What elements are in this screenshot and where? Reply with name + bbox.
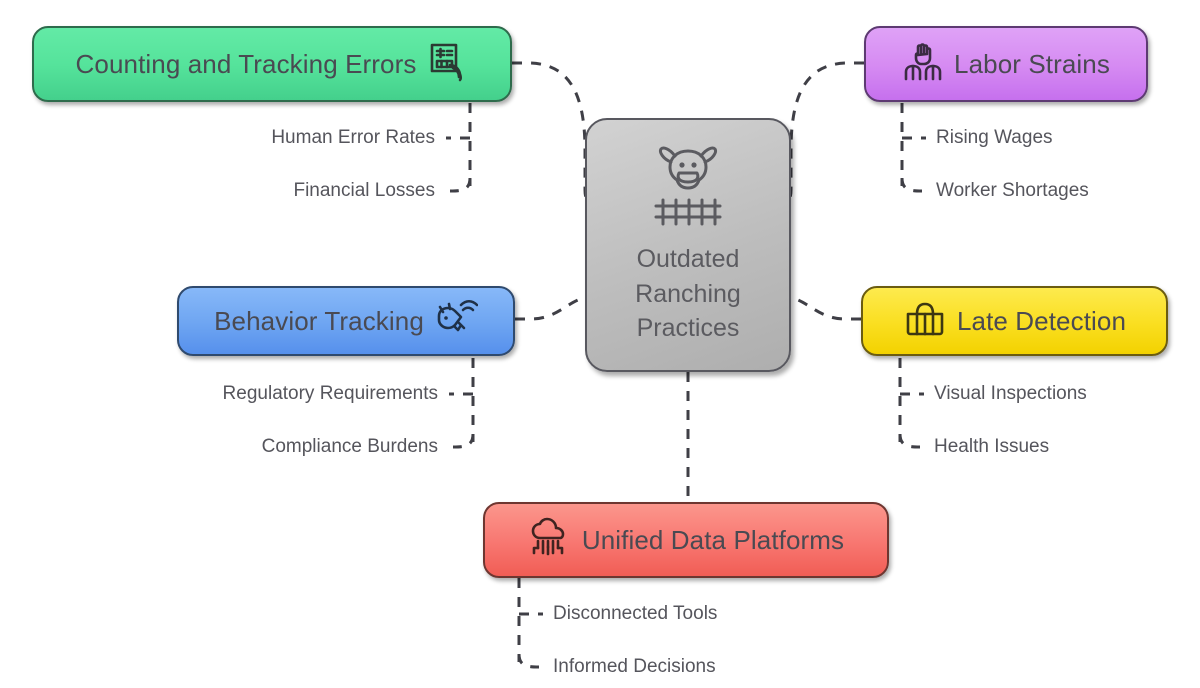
connector-center-behavior <box>515 297 588 319</box>
node-unified-data-platforms[interactable]: Unified Data Platforms <box>483 502 889 578</box>
cloud-circuit-icon <box>528 517 572 564</box>
center-title-line-0: Outdated <box>635 242 741 277</box>
center-node-title: Outdated Ranching Practices <box>635 242 741 346</box>
sub-label-late-0: Visual Inspections <box>934 383 1087 405</box>
fence-icon <box>653 197 723 232</box>
node-label-late-detection: Late Detection <box>957 306 1126 337</box>
mindmap-canvas: Outdated Ranching Practices Counting and… <box>0 0 1200 688</box>
workers-raised-hand-icon <box>902 41 944 88</box>
cow-head-icon <box>657 144 719 195</box>
node-label-labor-strains: Labor Strains <box>954 49 1110 80</box>
invoice-dollar-hand-icon <box>426 41 468 88</box>
node-counting-and-tracking-errors[interactable]: Counting and Tracking Errors <box>32 26 512 102</box>
node-label-unified-data-platforms: Unified Data Platforms <box>582 525 844 556</box>
sub-label-behavior-1: Compliance Burdens <box>110 436 438 458</box>
center-title-line-1: Ranching <box>635 277 741 312</box>
sub-label-unified-1: Informed Decisions <box>553 656 716 678</box>
center-title-line-2: Practices <box>635 311 741 346</box>
animal-tracking-signal-icon <box>434 298 478 345</box>
node-behavior-tracking[interactable]: Behavior Tracking <box>177 286 515 356</box>
sub-label-labor-0: Rising Wages <box>936 127 1053 149</box>
sub-label-behavior-0: Regulatory Requirements <box>110 383 438 405</box>
stem-counting-child-1 <box>450 178 470 191</box>
sub-label-late-1: Health Issues <box>934 436 1049 458</box>
node-late-detection[interactable]: Late Detection <box>861 286 1168 356</box>
center-node-outdated-ranching-practices[interactable]: Outdated Ranching Practices <box>585 118 791 372</box>
connector-center-late <box>788 297 861 319</box>
stem-unified-child-1 <box>519 654 539 667</box>
stem-late-child-1 <box>900 434 920 447</box>
stem-labor-child-1 <box>902 178 922 191</box>
sub-label-unified-0: Disconnected Tools <box>553 603 717 625</box>
node-labor-strains[interactable]: Labor Strains <box>864 26 1148 102</box>
stem-behavior-child-1 <box>453 434 473 447</box>
sub-label-counting-1: Financial Losses <box>170 180 435 202</box>
node-label-behavior-tracking: Behavior Tracking <box>214 306 424 337</box>
sub-label-labor-1: Worker Shortages <box>936 180 1089 202</box>
medical-bag-icon <box>903 298 947 345</box>
node-label-counting-and-tracking-errors: Counting and Tracking Errors <box>76 49 417 80</box>
sub-label-counting-0: Human Error Rates <box>170 127 435 149</box>
